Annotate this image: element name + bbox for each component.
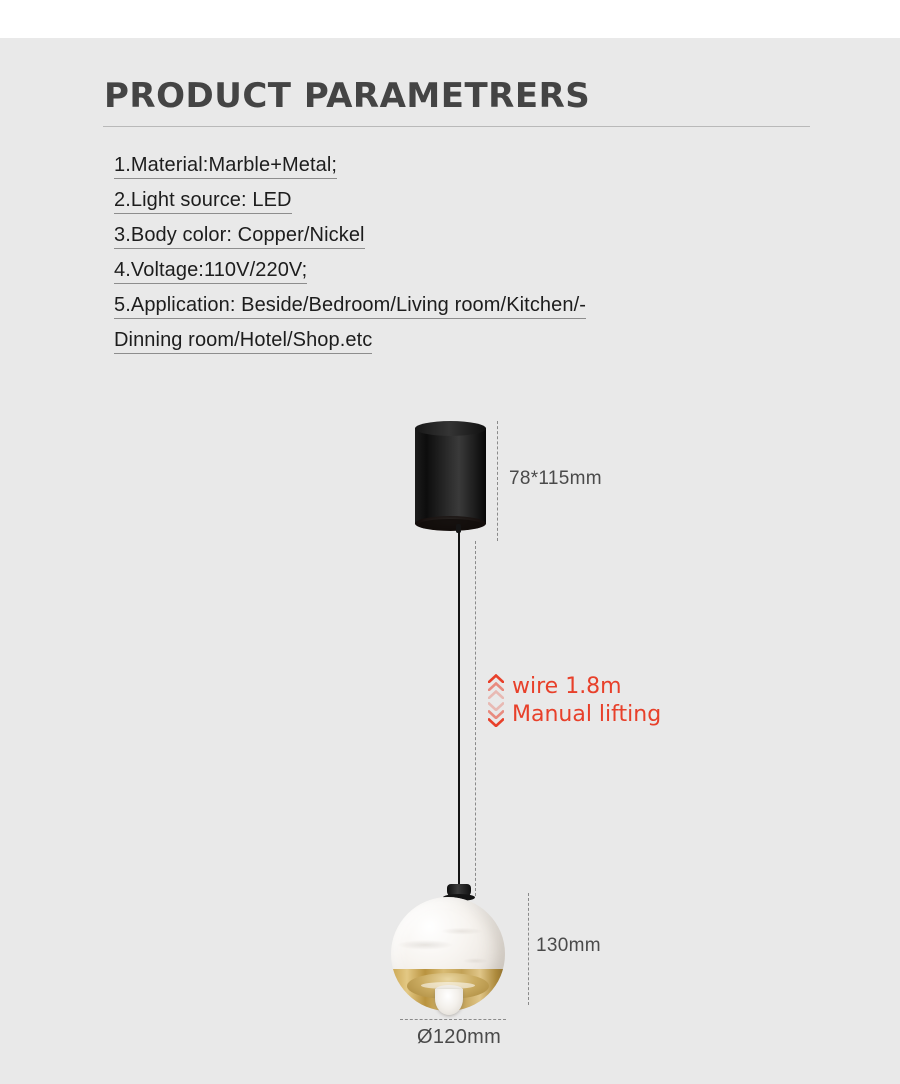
spec-text: 4.Voltage:110V/220V; <box>114 259 307 284</box>
spec-item-material: 1.Material:Marble+Metal; <box>114 148 754 183</box>
spec-item-body-color: 3.Body color: Copper/Nickel <box>114 218 754 253</box>
title-divider <box>103 126 810 127</box>
spec-text: 1.Material:Marble+Metal; <box>114 154 337 179</box>
spec-text: Dinning room/Hotel/Shop.etc <box>114 329 372 354</box>
spec-item-voltage: 4.Voltage:110V/220V; <box>114 253 754 288</box>
spec-item-application: 5.Application: Beside/Bedroom/Living roo… <box>114 288 754 323</box>
product-parameters-page: PRODUCT PARAMETRERS 1.Material:Marble+Me… <box>0 0 900 1084</box>
spec-text: 5.Application: Beside/Bedroom/Living roo… <box>114 294 586 319</box>
spec-item-application-cont: Dinning room/Hotel/Shop.etc <box>114 323 754 358</box>
page-title: PRODUCT PARAMETRERS <box>104 76 590 116</box>
spec-item-light-source: 2.Light source: LED <box>114 183 754 218</box>
spec-text: 3.Body color: Copper/Nickel <box>114 224 365 249</box>
spec-text: 2.Light source: LED <box>114 189 292 214</box>
specification-list: 1.Material:Marble+Metal; 2.Light source:… <box>114 148 754 358</box>
